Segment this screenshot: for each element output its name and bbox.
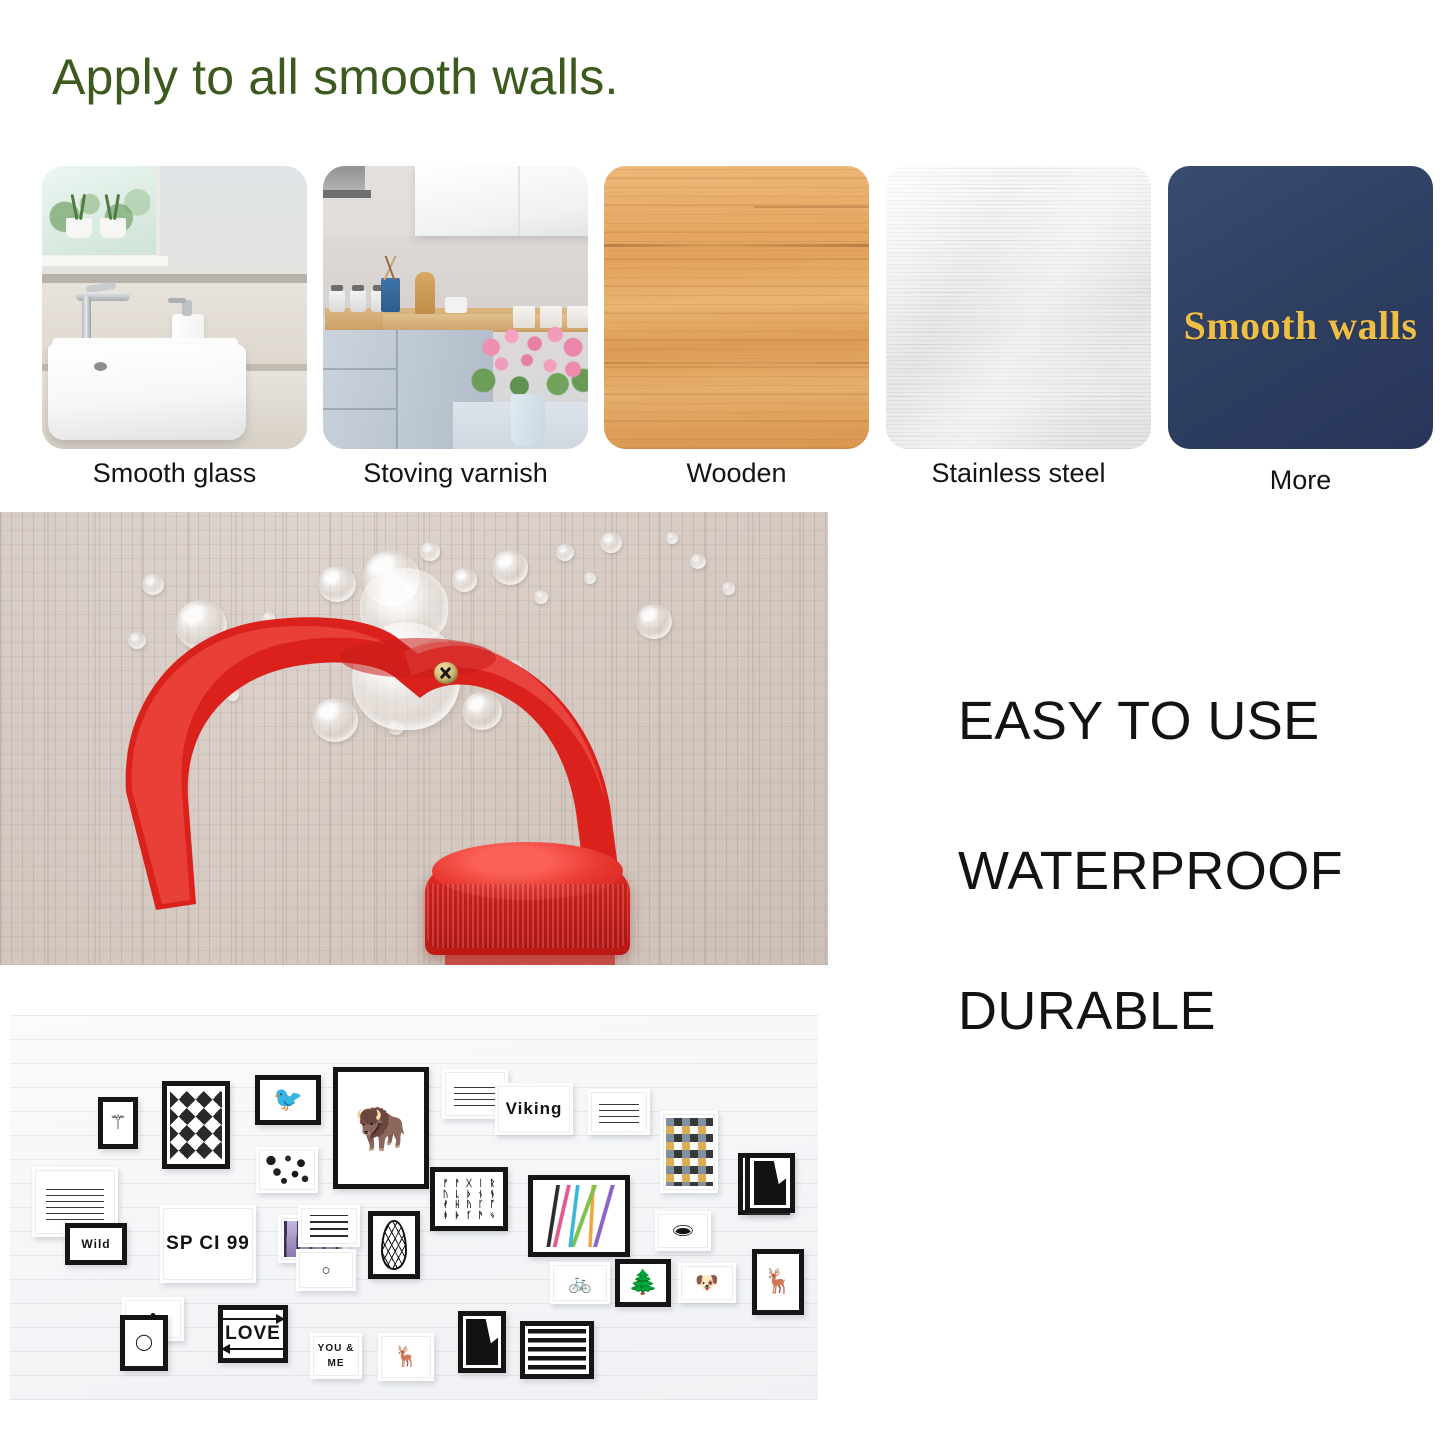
picture-frame: YOU & ME — [310, 1333, 362, 1379]
brushed-steel-swatch — [886, 166, 1151, 449]
surface-label-more: More — [1168, 465, 1433, 496]
frame-text-viking: Viking — [506, 1099, 563, 1119]
upper-cabinet-icon — [415, 166, 588, 236]
sink-basin-icon — [48, 344, 246, 440]
feature-durable: DURABLE — [958, 980, 1216, 1042]
picture-frame: 🕳 — [655, 1211, 711, 1251]
picture-frame: 🐶 — [678, 1263, 736, 1303]
cutting-board-icon — [415, 272, 435, 314]
product-infographic: Apply to all smooth walls. — [0, 0, 1445, 1445]
vase-icon — [511, 394, 545, 446]
picture-frame — [162, 1081, 230, 1169]
frame-text-wild: Wild — [81, 1237, 110, 1251]
picture-frame — [368, 1211, 420, 1279]
jar-icon — [329, 290, 345, 312]
picture-frame: Wild — [65, 1223, 127, 1265]
wood-grain-swatch — [604, 166, 869, 449]
picture-frame: 🦌 — [752, 1249, 804, 1315]
surface-label-smooth-glass: Smooth glass — [42, 458, 307, 489]
picture-frame — [660, 1111, 718, 1193]
utensil-holder-icon — [381, 278, 400, 312]
surface-tile-smooth-glass[interactable] — [42, 166, 307, 449]
screw-icon — [434, 662, 458, 684]
picture-frame: 🦌 — [378, 1333, 434, 1381]
surface-tile-more[interactable]: Smooth walls — [1168, 166, 1433, 449]
frame-text-love: LOVE — [225, 1323, 281, 1345]
picture-frame: SP CI 99 — [160, 1205, 256, 1283]
picture-frame — [520, 1321, 594, 1379]
potted-plant-icon — [66, 218, 92, 238]
frame-text-spci99: SP CI 99 — [166, 1233, 250, 1255]
hero-product-photo — [0, 512, 828, 965]
picture-frame: 🚲 — [550, 1262, 610, 1304]
picture-frame — [528, 1175, 630, 1257]
surface-tile-row: Smooth walls — [0, 166, 1445, 451]
picture-frame: 🌲 — [615, 1259, 671, 1307]
bottle-handle-icon — [0, 512, 828, 965]
feature-waterproof: WATERPROOF — [958, 840, 1343, 902]
picture-frame: ⚚ — [98, 1097, 138, 1149]
picture-frame: ◯ — [120, 1315, 168, 1371]
surface-tile-wooden[interactable] — [604, 166, 869, 449]
surface-label-wooden: Wooden — [604, 458, 869, 489]
potted-plant-icon — [100, 218, 126, 238]
jar-icon — [350, 290, 366, 312]
kitchen-cabinet-photo — [323, 166, 588, 449]
frame-text-you-and-me: YOU & ME — [314, 1341, 358, 1371]
picture-frame: Viking — [495, 1083, 573, 1135]
picture-frame: ○ — [296, 1249, 356, 1291]
surface-label-stoving-varnish: Stoving varnish — [323, 458, 588, 489]
surface-tile-stainless-steel[interactable] — [886, 166, 1151, 449]
picture-frame — [298, 1205, 360, 1247]
picture-frame: 🐦 — [255, 1075, 321, 1125]
picture-frame — [458, 1311, 506, 1373]
navy-panel-swatch: Smooth walls — [1168, 166, 1433, 449]
picture-frame — [745, 1153, 795, 1213]
surface-label-stainless-steel: Stainless steel — [886, 458, 1151, 489]
bathroom-sink-photo — [42, 166, 307, 449]
picture-frame: LOVE — [218, 1305, 288, 1363]
picture-frame — [256, 1147, 318, 1193]
picture-frame: 🦬 — [333, 1067, 429, 1189]
page-title: Apply to all smooth walls. — [52, 50, 619, 105]
feature-easy-to-use: EASY TO USE — [958, 690, 1320, 752]
window-icon — [42, 166, 160, 260]
surface-tile-stoving-varnish[interactable] — [323, 166, 588, 449]
picture-frame — [588, 1089, 650, 1135]
picture-frame: ᚠᚨᚷᛁᚱ ᚢᚳᚦᚾᚬ ᚯᚺᚤᚴᚩ ᚼᚧᚶᚫᛃ — [430, 1167, 508, 1231]
love-arrow-art: LOVE — [223, 1318, 283, 1350]
gallery-wall-photo: ⚚ 🐦 🦬 Viking — [10, 1015, 818, 1400]
smooth-walls-caption: Smooth walls — [1168, 302, 1433, 349]
